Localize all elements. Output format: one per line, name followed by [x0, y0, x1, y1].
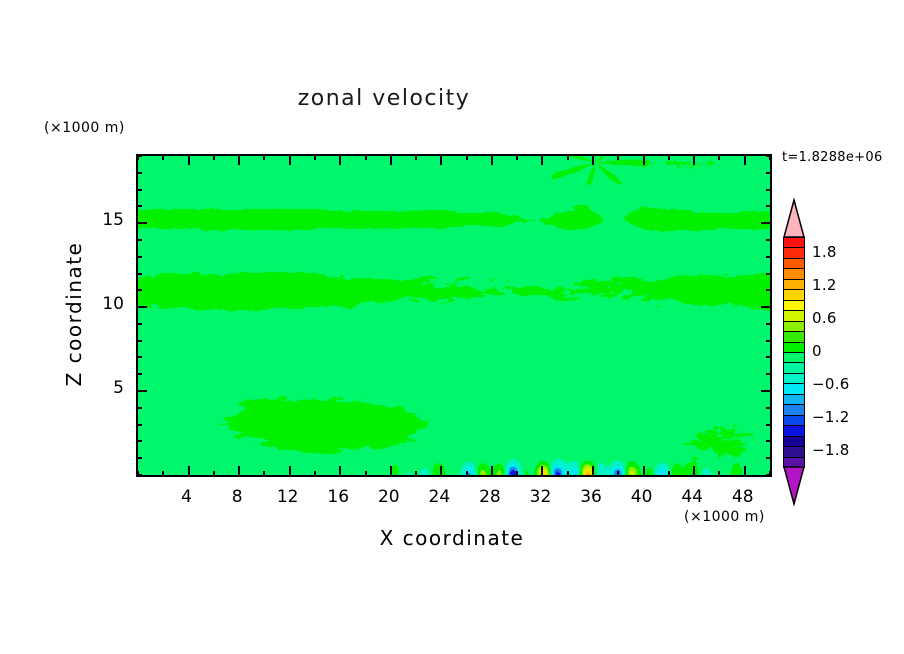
colorbar-tick-label: 1.8: [812, 243, 837, 261]
contour-plot-area: [136, 154, 772, 477]
x-axis-tick: [390, 154, 392, 165]
y-axis-tick: [136, 424, 142, 426]
y-axis-tick: [136, 373, 142, 375]
x-axis-tick: [592, 154, 594, 165]
x-axis-tick: [744, 154, 746, 165]
x-axis-unit-label: (×1000 m): [684, 509, 765, 525]
page-title: zonal velocity: [0, 86, 768, 111]
x-axis-tick: [162, 154, 164, 160]
colorbar-tick-label: 1.2: [812, 276, 837, 294]
x-axis-tick: [668, 154, 670, 160]
x-axis-tick: [339, 466, 341, 477]
x-axis-tick: [541, 154, 543, 165]
y-axis-tick: [761, 390, 772, 392]
x-axis-tick-label: 16: [316, 487, 360, 507]
time-annotation: t=1.8288e+06: [782, 150, 883, 165]
colorbar-tick-label: −0.6: [812, 375, 850, 393]
x-axis-tick: [365, 154, 367, 160]
y-axis-tick: [761, 306, 772, 308]
x-axis-tick: [668, 471, 670, 477]
x-axis-tick: [693, 154, 695, 165]
colorbar-tick-label: 0.6: [812, 309, 837, 327]
y-axis-tick: [766, 356, 772, 358]
y-axis-tick: [136, 239, 142, 241]
x-axis-tick-label: 36: [569, 487, 613, 507]
x-axis-title: X coordinate: [136, 526, 768, 550]
x-axis-tick-label: 32: [518, 487, 562, 507]
colorbar-top-arrow-icon: [783, 200, 805, 237]
x-axis-tick-label: 12: [266, 487, 310, 507]
x-axis-tick: [188, 466, 190, 477]
y-axis-tick-label: 15: [84, 210, 124, 230]
y-axis-tick: [136, 407, 142, 409]
y-axis-tick: [136, 155, 142, 157]
colorbar-tick-label: −1.2: [812, 408, 850, 426]
x-axis-tick: [238, 466, 240, 477]
x-axis-tick: [744, 466, 746, 477]
x-axis-tick: [643, 466, 645, 477]
y-axis-tick: [136, 172, 142, 174]
y-axis-tick: [761, 222, 772, 224]
x-axis-tick: [643, 154, 645, 165]
x-axis-tick: [567, 154, 569, 160]
y-axis-tick: [766, 424, 772, 426]
x-axis-tick: [440, 154, 442, 165]
x-axis-tick-label: 48: [721, 487, 765, 507]
y-axis-tick: [766, 323, 772, 325]
x-axis-tick: [440, 466, 442, 477]
x-axis-tick: [466, 471, 468, 477]
colorbar: [783, 237, 805, 467]
y-axis-tick: [136, 457, 142, 459]
x-axis-tick: [466, 154, 468, 160]
x-axis-tick-label: 4: [165, 487, 209, 507]
x-axis-tick: [415, 154, 417, 160]
x-axis-tick: [769, 154, 771, 160]
x-axis-tick: [289, 466, 291, 477]
x-axis-tick: [592, 466, 594, 477]
y-axis-tick: [136, 205, 142, 207]
x-axis-tick: [617, 471, 619, 477]
x-axis-tick: [289, 154, 291, 165]
y-axis-tick: [136, 390, 147, 392]
y-axis-tick: [766, 205, 772, 207]
y-axis-tick: [766, 407, 772, 409]
y-axis-tick: [766, 289, 772, 291]
x-axis-tick: [263, 154, 265, 160]
y-axis-tick: [766, 239, 772, 241]
y-axis-tick: [766, 474, 772, 476]
y-axis-tick: [136, 440, 142, 442]
x-axis-tick-label: 28: [468, 487, 512, 507]
x-axis-tick-label: 40: [620, 487, 664, 507]
x-axis-tick: [718, 471, 720, 477]
x-axis-tick: [263, 471, 265, 477]
y-axis-tick: [136, 256, 142, 258]
x-axis-tick: [415, 471, 417, 477]
x-axis-tick: [162, 471, 164, 477]
x-axis-tick-label: 44: [670, 487, 714, 507]
x-axis-tick: [238, 154, 240, 165]
y-axis-tick: [766, 457, 772, 459]
y-axis-tick-label: 5: [84, 378, 124, 398]
x-axis-tick: [491, 154, 493, 165]
colorbar-tick-label: 0: [812, 342, 822, 360]
colorbar-bottom-arrow-icon: [783, 467, 805, 504]
x-axis-tick: [516, 154, 518, 160]
y-axis-tick: [136, 474, 142, 476]
x-axis-tick: [693, 466, 695, 477]
y-axis-tick: [766, 340, 772, 342]
y-axis-tick: [136, 306, 147, 308]
x-axis-tick: [390, 466, 392, 477]
y-axis-tick: [766, 155, 772, 157]
y-axis-tick: [136, 273, 142, 275]
x-axis-tick: [213, 154, 215, 160]
y-axis-tick: [136, 356, 142, 358]
x-axis-tick: [718, 154, 720, 160]
x-axis-tick: [365, 471, 367, 477]
y-axis-tick: [136, 289, 142, 291]
x-axis-tick: [491, 466, 493, 477]
y-axis-tick-label: 10: [84, 294, 124, 314]
colorbar-tick-label: −1.8: [812, 441, 850, 459]
x-axis-tick-label: 20: [367, 487, 411, 507]
y-axis-title: Z coordinate: [62, 184, 86, 444]
x-axis-tick: [213, 471, 215, 477]
y-axis-tick: [766, 172, 772, 174]
x-axis-tick: [188, 154, 190, 165]
y-axis-tick: [766, 440, 772, 442]
x-axis-tick-label: 8: [215, 487, 259, 507]
x-axis-tick: [617, 154, 619, 160]
contour-field-canvas: [138, 156, 770, 475]
y-axis-unit-label: (×1000 m): [44, 120, 125, 136]
y-axis-tick: [136, 323, 142, 325]
x-axis-tick: [314, 154, 316, 160]
x-axis-tick: [516, 471, 518, 477]
y-axis-tick: [766, 189, 772, 191]
x-axis-tick-label: 24: [417, 487, 461, 507]
y-axis-tick: [136, 189, 142, 191]
y-axis-tick: [766, 373, 772, 375]
x-axis-tick: [137, 154, 139, 160]
x-axis-tick: [567, 471, 569, 477]
y-axis-tick: [136, 340, 142, 342]
y-axis-tick: [136, 222, 147, 224]
x-axis-tick: [314, 471, 316, 477]
x-axis-tick: [339, 154, 341, 165]
y-axis-tick: [766, 256, 772, 258]
x-axis-tick: [541, 466, 543, 477]
y-axis-tick: [766, 273, 772, 275]
